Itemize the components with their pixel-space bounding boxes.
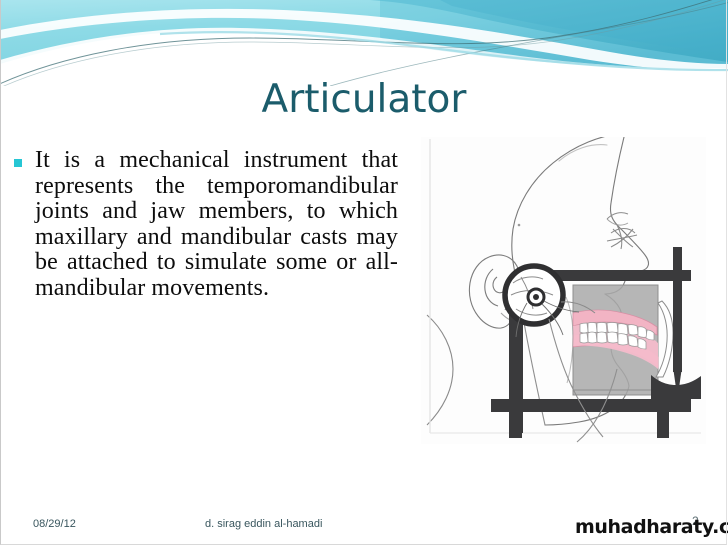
presentation-slide: Articulator It is a mechanical instrumen… [0, 0, 728, 546]
footer-author: d. sirag eddin al-hamadi [205, 518, 322, 530]
slide-header-banner [0, 0, 728, 86]
header-wave-graphic [0, 0, 728, 86]
articulator-illustration [421, 137, 706, 444]
bullet-list-item: It is a mechanical instrument that repre… [10, 148, 398, 301]
page-title: Articulator [0, 78, 728, 122]
bullet-item-text: It is a mechanical instrument that repre… [35, 148, 398, 301]
site-watermark: muhadharaty.com [575, 516, 728, 538]
footer-date: 08/29/12 [33, 518, 76, 530]
articulator-head-profile-svg [421, 137, 706, 444]
slide-body-content: It is a mechanical instrument that repre… [10, 148, 398, 301]
square-bullet-icon [14, 159, 22, 167]
